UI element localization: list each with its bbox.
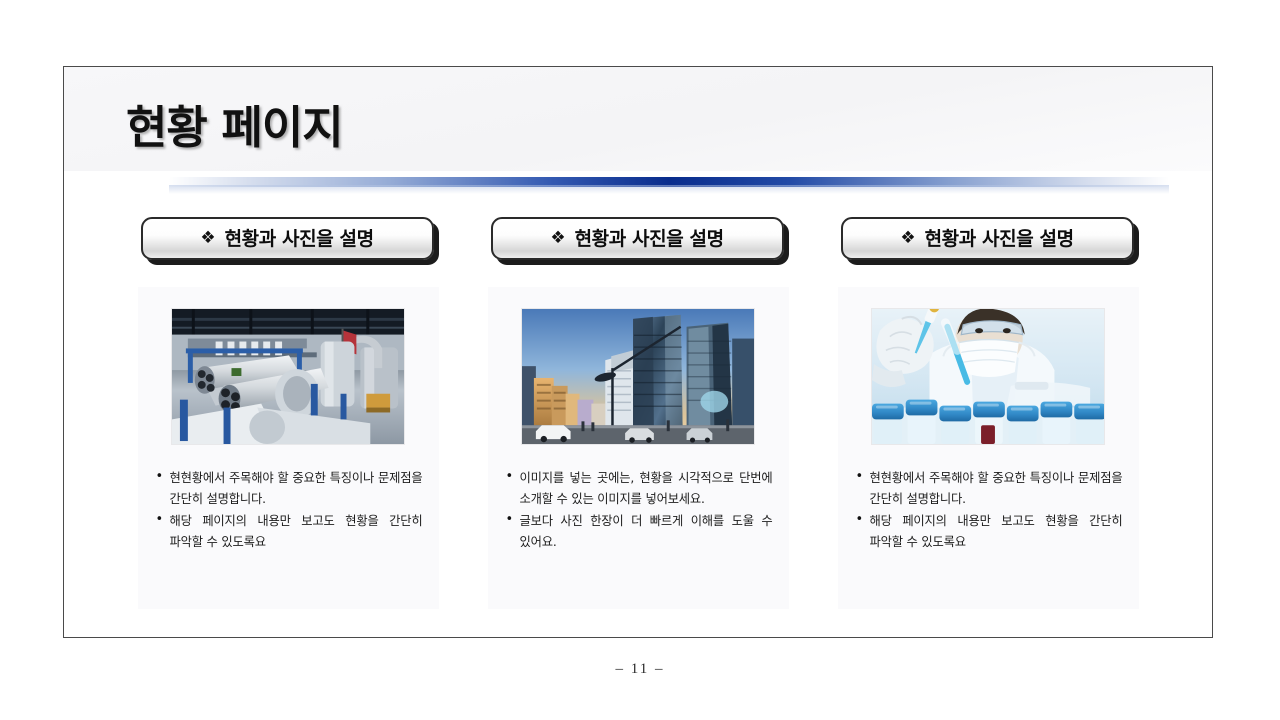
column-header-1[interactable]: ❖ 현황과 사진을 설명 <box>141 217 434 260</box>
bullet-list-1: 현현황에서 주목해야 할 중요한 특징이나 문제점을 간단히 설명합니다. 해당… <box>138 468 439 552</box>
page-number: – 11 – <box>0 661 1280 678</box>
column-header-3[interactable]: ❖ 현황과 사진을 설명 <box>841 217 1134 260</box>
divider-glow <box>169 185 1169 194</box>
city-skyline-photo <box>521 308 755 445</box>
bullet-list-2: 이미지를 넣는 곳에는, 현황을 시각적으로 단번에 소개할 수 있는 이미지를… <box>488 468 789 552</box>
slide-header-band: 현황 페이지 <box>64 67 1212 171</box>
content-column-2: ❖ 현황과 사진을 설명 <box>488 217 789 637</box>
column-panel-2: 이미지를 넣는 곳에는, 현황을 시각적으로 단번에 소개할 수 있는 이미지를… <box>488 287 789 609</box>
slide-frame: 현황 페이지 ❖ 현황과 사진을 설명 <box>63 66 1213 638</box>
bullet-item: 현현황에서 주목해야 할 중요한 특징이나 문제점을 간단히 설명합니다. <box>170 468 423 509</box>
diamond-bullet-icon: ❖ <box>200 230 215 247</box>
content-column-3: ❖ 현황과 사진을 설명 <box>838 217 1139 637</box>
bullet-item: 해당 페이지의 내용만 보고도 현황을 간단히 파악할 수 있도록요 <box>170 511 423 552</box>
bullet-item: 글보다 사진 한장이 더 빠르게 이해를 도울 수 있어요. <box>520 511 773 552</box>
column-header-label-1: 현황과 사진을 설명 <box>225 224 374 251</box>
column-header-inner-3: ❖ 현황과 사진을 설명 <box>900 224 1073 251</box>
column-panel-3: 현현황에서 주목해야 할 중요한 특징이나 문제점을 간단히 설명합니다. 해당… <box>838 287 1139 609</box>
column-header-inner-2: ❖ 현황과 사진을 설명 <box>550 224 723 251</box>
column-header-label-2: 현황과 사진을 설명 <box>575 224 724 251</box>
industrial-plant-photo <box>171 308 405 445</box>
page-title: 현황 페이지 <box>126 91 343 156</box>
column-panel-1: 현현황에서 주목해야 할 중요한 특징이나 문제점을 간단히 설명합니다. 해당… <box>138 287 439 609</box>
column-header-label-3: 현황과 사진을 설명 <box>925 224 1074 251</box>
column-header-inner-1: ❖ 현황과 사진을 설명 <box>200 224 373 251</box>
laboratory-research-photo <box>871 308 1105 445</box>
bullet-list-3: 현현황에서 주목해야 할 중요한 특징이나 문제점을 간단히 설명합니다. 해당… <box>838 468 1139 552</box>
column-header-2[interactable]: ❖ 현황과 사진을 설명 <box>491 217 784 260</box>
diamond-bullet-icon: ❖ <box>900 230 915 247</box>
bullet-item: 해당 페이지의 내용만 보고도 현황을 간단히 파악할 수 있도록요 <box>870 511 1123 552</box>
blue-gradient-divider <box>64 171 1212 195</box>
content-columns: ❖ 현황과 사진을 설명 <box>64 217 1212 637</box>
content-column-1: ❖ 현황과 사진을 설명 <box>138 217 439 637</box>
slide-canvas: 현황 페이지 ❖ 현황과 사진을 설명 <box>0 0 1280 720</box>
bullet-item: 현현황에서 주목해야 할 중요한 특징이나 문제점을 간단히 설명합니다. <box>870 468 1123 509</box>
diamond-bullet-icon: ❖ <box>550 230 565 247</box>
bullet-item: 이미지를 넣는 곳에는, 현황을 시각적으로 단번에 소개할 수 있는 이미지를… <box>520 468 773 509</box>
